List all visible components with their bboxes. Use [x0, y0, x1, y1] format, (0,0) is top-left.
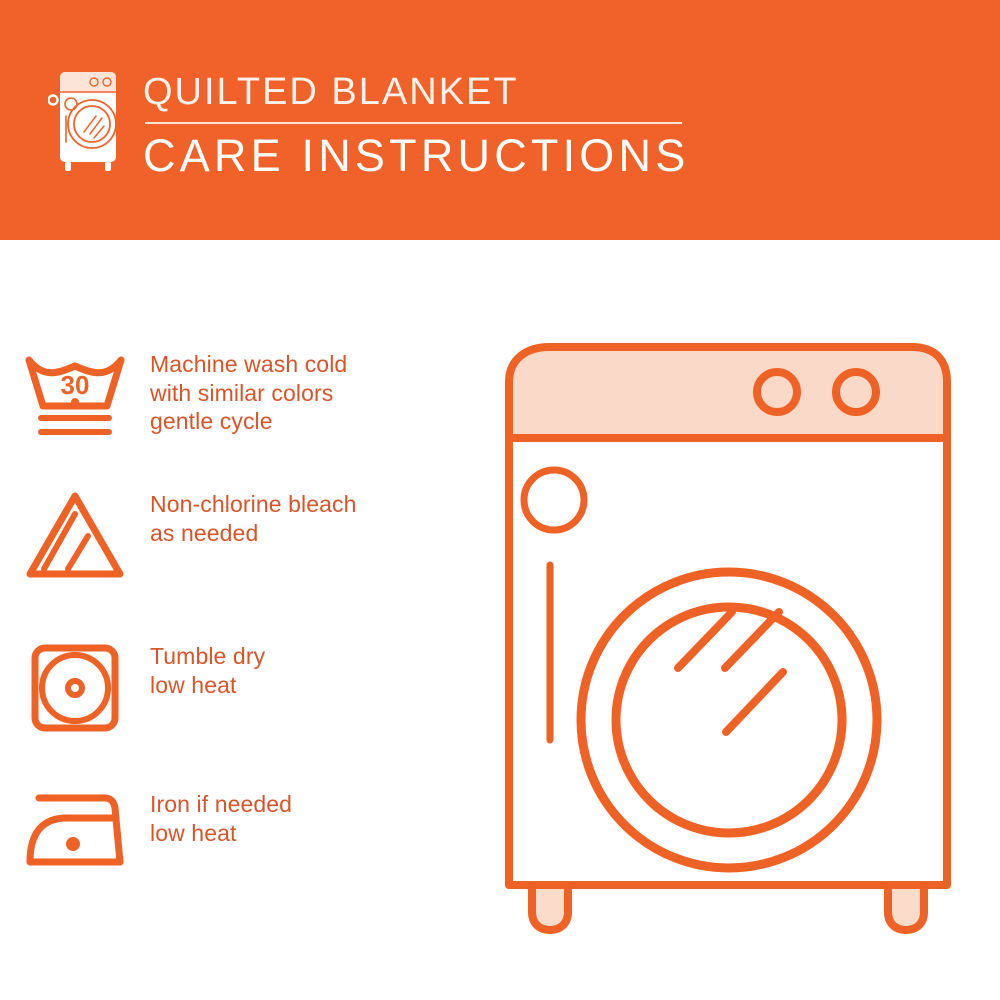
control-panel — [509, 347, 947, 438]
care-instruction-list: 30 Machine wash cold with similar colors… — [0, 240, 480, 1000]
care-label-iron: Iron if needed low heat — [150, 788, 292, 847]
non-chlorine-bleach-triangle-icon — [0, 488, 150, 584]
care-label-line: as needed — [150, 519, 356, 548]
care-label-bleach: Non-chlorine bleach as needed — [150, 488, 356, 547]
care-label-line: low heat — [150, 671, 265, 700]
leg-left — [532, 885, 568, 930]
header-banner: QUILTED BLANKET CARE INSTRUCTIONS — [0, 0, 1000, 240]
care-label-tumble-dry: Tumble dry low heat — [150, 640, 265, 699]
care-label-line: Tumble dry — [150, 642, 265, 671]
wash-temperature-value: 30 — [61, 370, 90, 400]
page-title-primary: QUILTED BLANKET — [143, 70, 763, 114]
door-inner-ring — [616, 607, 842, 833]
leg-right — [888, 885, 924, 930]
care-label-line: Iron if needed — [150, 790, 292, 819]
detergent-dial — [524, 470, 584, 530]
header-title-block: QUILTED BLANKET CARE INSTRUCTIONS — [143, 70, 763, 182]
care-label-line: Machine wash cold — [150, 350, 347, 379]
iron-low-heat-icon — [0, 788, 150, 872]
page-title-secondary: CARE INSTRUCTIONS — [143, 130, 763, 182]
care-row-bleach: Non-chlorine bleach as needed — [0, 488, 470, 584]
washing-machine-icon — [48, 66, 122, 174]
washing-machine-illustration — [478, 320, 978, 940]
door-shine-lines — [678, 612, 783, 732]
care-label-machine-wash: Machine wash cold with similar colors ge… — [150, 348, 347, 436]
care-row-tumble-dry: Tumble dry low heat — [0, 640, 470, 736]
tumble-dry-low-heat-icon — [0, 640, 150, 736]
care-label-line: gentle cycle — [150, 407, 347, 436]
care-label-line: low heat — [150, 819, 292, 848]
care-row-iron: Iron if needed low heat — [0, 788, 470, 872]
wash-tub-30-gentle-icon: 30 — [0, 348, 150, 448]
care-row-machine-wash: 30 Machine wash cold with similar colors… — [0, 348, 470, 448]
care-label-line: with similar colors — [150, 379, 347, 408]
title-divider — [145, 122, 682, 124]
care-label-line: Non-chlorine bleach — [150, 490, 356, 519]
care-instructions-page: QUILTED BLANKET CARE INSTRUCTIONS 30 Mac… — [0, 0, 1000, 1000]
